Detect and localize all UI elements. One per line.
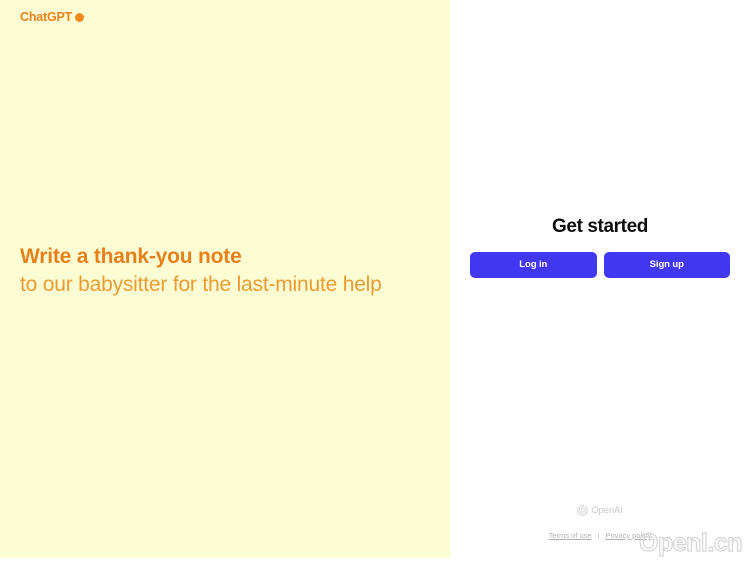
auth-button-group: Log in Sign up (450, 252, 750, 278)
page-root: ChatGPT Write a thank-you note to our ba… (0, 0, 750, 562)
promo-headline: Write a thank-you note to our babysitter… (20, 243, 420, 299)
terms-of-use-link[interactable]: Terms of use (549, 531, 592, 540)
openai-logo: OpenAI (450, 505, 750, 516)
footer-separator: | (598, 531, 600, 540)
left-promo-panel: ChatGPT Write a thank-you note to our ba… (0, 0, 450, 558)
page-footer: OpenAI Terms of use | Privacy policy (450, 505, 750, 540)
promo-headline-bold-line: Write a thank-you note (20, 243, 420, 271)
chatgpt-brand-label: ChatGPT (20, 11, 72, 24)
login-button[interactable]: Log in (470, 252, 597, 278)
openai-knot-icon (577, 505, 588, 516)
right-auth-panel: Get started Log in Sign up OpenAI Terms … (450, 0, 750, 562)
openai-label: OpenAI (591, 505, 623, 516)
footer-links: Terms of use | Privacy policy (450, 531, 750, 540)
chatgpt-brand-logo[interactable]: ChatGPT (20, 11, 84, 24)
privacy-policy-link[interactable]: Privacy policy (606, 531, 652, 540)
promo-headline-rest-line: to our babysitter for the last-minute he… (20, 271, 420, 299)
orange-dot-icon (75, 13, 84, 22)
get-started-title: Get started (450, 216, 750, 238)
signup-button[interactable]: Sign up (604, 252, 731, 278)
get-started-section: Get started Log in Sign up (450, 216, 750, 278)
